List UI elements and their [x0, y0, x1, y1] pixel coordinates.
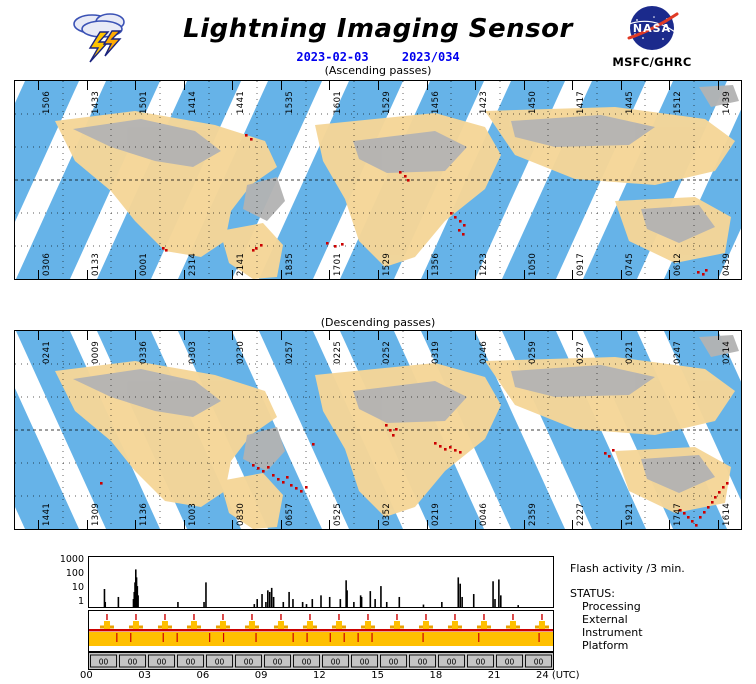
orbit-tick [329, 80, 330, 90]
flash-point [695, 524, 698, 527]
flash-point [407, 179, 410, 182]
orbit-tick [475, 270, 476, 280]
flash-point [286, 476, 289, 479]
orbit-tick [38, 80, 39, 90]
orbit-tick [281, 80, 282, 90]
y-tick-label: 10 [36, 582, 84, 593]
flash-point [687, 516, 690, 519]
external-bump [307, 621, 313, 629]
flash-point [305, 486, 308, 489]
orbit-time-label: 1050 [528, 253, 538, 276]
orbit-time-label: 1701 [333, 253, 343, 276]
orbit-time-label: 0745 [625, 253, 635, 276]
hour-cell-label: 00 [418, 658, 428, 667]
orbit-time-label: 1529 [382, 253, 392, 276]
flash-point [257, 467, 260, 470]
orbit-time-label: 0306 [42, 253, 52, 276]
legend-item-processing: Processing [582, 600, 756, 613]
orbit-tick [524, 80, 525, 90]
orbit-time-label: 1450 [528, 91, 538, 114]
orbit-tick [427, 330, 428, 340]
orbit-tick [135, 330, 136, 340]
orbit-time-label: 1417 [576, 91, 586, 114]
y-tick-label: 100 [36, 568, 84, 579]
x-tick-label: 06 [197, 670, 210, 681]
flash-point [703, 511, 706, 514]
external-bump [249, 621, 255, 629]
flash-point [722, 486, 725, 489]
x-tick-label: 18 [430, 670, 443, 681]
orbit-tick [718, 80, 719, 90]
orbit-tick [669, 80, 670, 90]
legend-flash-title: Flash activity /3 min. [570, 562, 756, 575]
flash-point [449, 446, 452, 449]
orbit-tick [572, 270, 573, 280]
orbit-time-label: 2141 [236, 253, 246, 276]
hour-cells-row: 00000000000000000000000000000000 [88, 652, 554, 670]
orbit-tick [524, 330, 525, 340]
flash-point [290, 484, 293, 487]
flash-point [399, 171, 402, 174]
orbit-tick [669, 330, 670, 340]
agency-caption: MSFC/GHRC [592, 55, 712, 69]
hour-cell-label: 00 [447, 658, 457, 667]
flash-point [612, 449, 615, 452]
orbit-tick [184, 270, 185, 280]
orbit-time-label: 0525 [333, 503, 343, 526]
orbit-time-label: 0133 [91, 253, 101, 276]
orbit-tick [718, 520, 719, 530]
orbit-tick [232, 80, 233, 90]
panel-legend: Flash activity /3 min. STATUS: Processin… [570, 562, 756, 652]
x-tick-label: 03 [138, 670, 151, 681]
orbit-tick [87, 270, 88, 280]
y-tick-label: 1 [36, 596, 84, 607]
hour-cells-graphic: 00000000000000000000000000000000 [89, 653, 553, 669]
flash-point [165, 249, 168, 252]
orbit-tick [378, 270, 379, 280]
orbit-tick [718, 330, 719, 340]
orbit-time-label: 0917 [576, 253, 586, 276]
orbit-tick [621, 80, 622, 90]
orbit-tick [621, 520, 622, 530]
orbit-time-label: 1601 [333, 91, 343, 114]
flash-point [277, 478, 280, 481]
legend-item-external: External [582, 613, 756, 626]
orbit-tick [669, 520, 670, 530]
flash-point [162, 247, 165, 250]
hour-cell-label: 00 [215, 658, 225, 667]
flash-activity-plot [88, 556, 554, 608]
orbit-time-label: 1439 [722, 91, 732, 114]
flash-point [702, 273, 705, 276]
flash-point [459, 451, 462, 454]
orbit-tick [232, 520, 233, 530]
x-tick-label: 21 [488, 670, 501, 681]
flash-point [697, 271, 700, 274]
hour-cell-label: 00 [331, 658, 341, 667]
hour-cell-label: 00 [186, 658, 196, 667]
orbit-time-label: 0225 [333, 341, 343, 364]
flash-point [392, 434, 395, 437]
flash-activity-graphic [89, 557, 553, 607]
orbit-time-label: 1423 [479, 91, 489, 114]
orbit-tick [378, 80, 379, 90]
orbit-tick [135, 80, 136, 90]
flash-point [341, 243, 344, 246]
svg-text:NASA: NASA [633, 22, 671, 35]
orbit-time-label: 0303 [188, 341, 198, 364]
flash-point [312, 443, 315, 446]
x-tick-label: 09 [255, 670, 268, 681]
flash-point [450, 212, 453, 215]
x-tick-label: 00 [80, 670, 93, 681]
orbit-tick [329, 330, 330, 340]
orbit-tick [572, 330, 573, 340]
flash-point [608, 455, 611, 458]
x-axis-labels: 000306091215182124 (UTC) [88, 670, 688, 684]
flash-point [714, 496, 717, 499]
platform-status-band [89, 632, 553, 646]
x-tick-label: 15 [371, 670, 384, 681]
orbit-tick [524, 270, 525, 280]
external-bump [452, 621, 458, 629]
flash-point [705, 269, 708, 272]
hour-cell-label: 00 [505, 658, 515, 667]
orbit-tick [87, 520, 88, 530]
orbit-tick [572, 80, 573, 90]
flash-point [385, 424, 388, 427]
orbit-time-label: 1441 [42, 503, 52, 526]
flash-point [691, 520, 694, 523]
ascending-passes-map: 1506143315011414144115351601152914561423… [14, 80, 742, 280]
orbit-time-label: 0227 [576, 341, 586, 364]
flash-point [255, 247, 258, 250]
external-bump [423, 621, 429, 629]
orbit-tick [329, 270, 330, 280]
orbit-time-label: 1441 [236, 91, 246, 114]
flash-point [458, 229, 461, 232]
orbit-tick [524, 520, 525, 530]
flash-point [250, 138, 253, 141]
external-bump [278, 621, 284, 629]
orbit-tick [38, 330, 39, 340]
orbit-time-label: 0612 [673, 253, 683, 276]
orbit-tick [572, 520, 573, 530]
orbit-tick [621, 270, 622, 280]
hour-cell-label: 00 [273, 658, 283, 667]
orbit-time-label: 1835 [285, 253, 295, 276]
hour-cell-label: 00 [476, 658, 486, 667]
orbit-time-label: 1921 [625, 503, 635, 526]
orbit-time-label: 0241 [42, 341, 52, 364]
orbit-time-label: 0657 [285, 503, 295, 526]
orbit-time-label: 1506 [42, 91, 52, 114]
orbit-tick [329, 520, 330, 530]
x-tick-label: 24 (UTC) [536, 670, 580, 681]
hour-cell-label: 00 [302, 658, 312, 667]
orbit-tick [669, 270, 670, 280]
flash-point [726, 482, 729, 485]
orbit-time-label: 1747 [673, 503, 683, 526]
orbit-tick [378, 330, 379, 340]
flash-point [463, 224, 466, 227]
orbit-tick [281, 330, 282, 340]
flash-point [718, 491, 721, 494]
orbit-time-label: 1223 [479, 253, 489, 276]
external-bump [220, 621, 226, 629]
orbit-time-label: 0247 [673, 341, 683, 364]
flash-point [260, 244, 263, 247]
flash-point [252, 249, 255, 252]
y-tick-label: 1000 [36, 554, 84, 565]
flash-activity-panel: 1000100101 00000000000000000000000000000… [0, 546, 756, 680]
orbit-tick [281, 520, 282, 530]
external-bump [104, 621, 110, 629]
hour-cell-label: 00 [244, 658, 254, 667]
page-header: Lightning Imaging Sensor 2023-02-03 2023… [0, 0, 756, 76]
orbit-time-label: 2359 [528, 503, 538, 526]
nasa-meatball-icon: NASA [621, 4, 683, 54]
orbit-time-label: 0246 [479, 341, 489, 364]
flash-point [282, 481, 285, 484]
orbit-time-label: 0830 [236, 503, 246, 526]
observation-date: 2023-02-03 [296, 50, 368, 64]
orbit-time-label: 1003 [188, 503, 198, 526]
flash-point [295, 487, 298, 490]
descending-passes-map: 0241000903360303023002570225025203190246… [14, 330, 742, 530]
orbit-time-label: 0439 [722, 253, 732, 276]
external-bump [394, 621, 400, 629]
instrument-status-line [89, 629, 553, 631]
orbit-time-label: 2227 [576, 503, 586, 526]
flash-point [454, 216, 457, 219]
external-bump [539, 621, 545, 629]
orbit-tick [232, 270, 233, 280]
orbit-time-label: 1501 [139, 91, 149, 114]
legend-item-instrument: Instrument [582, 626, 756, 639]
external-bump [481, 621, 487, 629]
flash-point [462, 233, 465, 236]
orbit-time-label: 1136 [139, 503, 149, 526]
flash-point [300, 490, 303, 493]
flash-point [444, 448, 447, 451]
flash-point [404, 175, 407, 178]
descending-passes-caption: (Descending passes) [0, 316, 756, 329]
orbit-time-label: 2314 [188, 253, 198, 276]
orbit-tick [184, 520, 185, 530]
flash-point [454, 449, 457, 452]
orbit-tick [232, 330, 233, 340]
orbit-time-label: 0046 [479, 503, 489, 526]
y-axis-labels: 1000100101 [34, 550, 84, 612]
flash-point [272, 474, 275, 477]
orbit-time-label: 0230 [236, 341, 246, 364]
orbit-tick [475, 330, 476, 340]
orbit-tick [427, 80, 428, 90]
orbit-tick [38, 520, 39, 530]
orbit-time-label: 0336 [139, 341, 149, 364]
orbit-tick [135, 520, 136, 530]
orbit-time-label: 1529 [382, 91, 392, 114]
flash-point [395, 428, 398, 431]
orbit-time-label: 1535 [285, 91, 295, 114]
status-graphic [89, 611, 553, 651]
orbit-tick [281, 270, 282, 280]
orbit-tick [427, 270, 428, 280]
orbit-time-label: 1614 [722, 503, 732, 526]
orbit-time-label: 0252 [382, 341, 392, 364]
orbit-time-label: 0259 [528, 341, 538, 364]
orbit-tick [427, 520, 428, 530]
external-bump [162, 621, 168, 629]
external-bump [365, 621, 371, 629]
orbit-time-label: 1356 [431, 253, 441, 276]
orbit-tick [378, 520, 379, 530]
orbit-tick [184, 80, 185, 90]
orbit-tick [718, 270, 719, 280]
orbit-time-label: 1512 [673, 91, 683, 114]
orbit-tick [184, 330, 185, 340]
status-rows [88, 610, 554, 652]
orbit-time-label: 0001 [139, 253, 149, 276]
flash-point [683, 512, 686, 515]
hour-cell-label: 00 [128, 658, 138, 667]
hour-cell-label: 00 [534, 658, 544, 667]
orbit-time-label: 1414 [188, 91, 198, 114]
hour-cell-label: 00 [389, 658, 399, 667]
external-bump [133, 621, 139, 629]
flash-point [262, 470, 265, 473]
hour-cell-label: 00 [360, 658, 370, 667]
orbit-time-label: 1456 [431, 91, 441, 114]
legend-status-title: STATUS: [570, 587, 756, 600]
flash-point [267, 466, 270, 469]
flash-point [389, 429, 392, 432]
orbit-tick [475, 520, 476, 530]
external-bump [510, 621, 516, 629]
orbit-tick [135, 270, 136, 280]
flash-point [245, 134, 248, 137]
x-tick-label: 12 [313, 670, 326, 681]
orbit-tick [475, 80, 476, 90]
external-bump [336, 621, 342, 629]
orbit-tick [87, 80, 88, 90]
orbit-tick [38, 270, 39, 280]
flash-point [326, 242, 329, 245]
orbit-time-label: 0319 [431, 341, 441, 364]
flash-point [707, 506, 710, 509]
day-of-year: 2023/034 [402, 50, 460, 64]
orbit-time-label: 1445 [625, 91, 635, 114]
hour-cell-label: 00 [99, 658, 109, 667]
flash-point [439, 445, 442, 448]
orbit-time-label: 1309 [91, 503, 101, 526]
orbit-time-label: 0221 [625, 341, 635, 364]
flash-point [252, 464, 255, 467]
orbit-time-label: 0219 [431, 503, 441, 526]
orbit-tick [621, 330, 622, 340]
flash-point [434, 442, 437, 445]
orbit-time-label: 0352 [382, 503, 392, 526]
flash-point [604, 452, 607, 455]
flash-point [459, 220, 462, 223]
flash-point [699, 516, 702, 519]
orbit-time-label: 0214 [722, 341, 732, 364]
legend-item-platform: Platform [582, 639, 756, 652]
external-bump [191, 621, 197, 629]
nasa-logo-block: NASA MSFC/GHRC [592, 4, 712, 69]
flash-point [711, 501, 714, 504]
orbit-time-label: 0257 [285, 341, 295, 364]
orbit-tick [87, 330, 88, 340]
flash-point [334, 245, 337, 248]
orbit-time-label: 0009 [91, 341, 101, 364]
flash-point [100, 482, 103, 485]
orbit-time-label: 1433 [91, 91, 101, 114]
hour-cell-label: 00 [157, 658, 167, 667]
